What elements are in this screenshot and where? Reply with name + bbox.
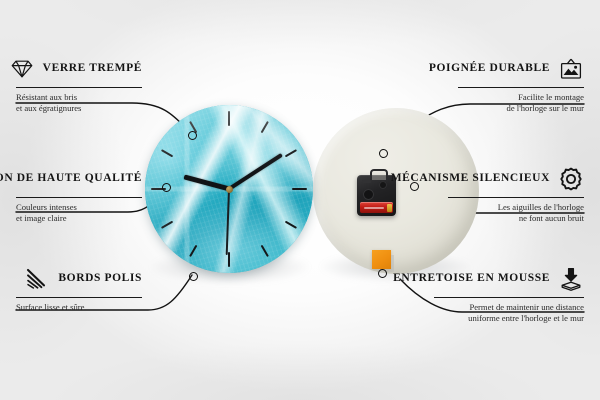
leader-ring-impression	[162, 183, 171, 192]
feature-rule	[16, 197, 142, 198]
leader-ring-poignee	[379, 149, 388, 158]
feature-rule	[458, 87, 584, 88]
foam-spacer-pad	[372, 250, 391, 269]
mechanism-dial-left	[363, 189, 374, 200]
leader-ring-entretoise	[378, 269, 387, 278]
foam-spacer-icon	[558, 266, 584, 292]
feature-description: Surface lisse et sûre	[16, 302, 142, 313]
feature-rule	[434, 297, 584, 298]
feature-header: VERRE TREMPÉ	[16, 56, 142, 82]
feature-description: Les aiguilles de l'horloge ne font aucun…	[448, 202, 584, 223]
feature-description: Facilite le montage de l'horloge sur le …	[458, 92, 584, 113]
picture-hanger-icon	[558, 56, 584, 82]
gear-icon	[558, 166, 584, 192]
feature-title: ENTRETOISE EN MOUSSE	[393, 272, 550, 286]
feature-header: MÉCANISME SILENCIEUX	[448, 166, 584, 192]
feature-entretoise-en-mousse[interactable]: ENTRETOISE EN MOUSSE Permet de maintenir…	[434, 266, 584, 323]
feature-description: Couleurs intenses et image claire	[16, 202, 142, 223]
feature-header: POIGNÉE DURABLE	[458, 56, 584, 82]
feature-header: ultra HD IMPRESSION DE HAUTE QUALITÉ	[16, 166, 142, 192]
feature-title: MÉCANISME SILENCIEUX	[391, 172, 550, 186]
polished-edges-icon	[24, 266, 50, 292]
mechanism-hanging-tab	[370, 169, 388, 180]
leader-ring-verre-trempe	[188, 131, 197, 140]
feature-description: Permet de maintenir une distance uniform…	[434, 302, 584, 323]
feature-rule	[448, 197, 584, 198]
feature-verre-trempe[interactable]: VERRE TREMPÉ Résistant aux bris et aux é…	[16, 56, 142, 113]
feature-mecanisme-silencieux[interactable]: MÉCANISME SILENCIEUX Les aiguilles de l'…	[448, 166, 584, 223]
feature-title: VERRE TREMPÉ	[43, 62, 142, 76]
feature-rule	[16, 87, 142, 88]
battery-stripe	[364, 207, 384, 209]
feature-header: BORDS POLIS	[16, 266, 142, 292]
mechanism-slot	[362, 180, 371, 183]
battery	[360, 202, 393, 213]
feature-description: Résistant aux bris et aux égratignures	[16, 92, 142, 113]
feature-impression-haute-qualite[interactable]: ultra HD IMPRESSION DE HAUTE QUALITÉ Cou…	[16, 166, 142, 223]
diamond-icon	[9, 56, 35, 82]
feature-bords-polis[interactable]: BORDS POLIS Surface lisse et sûre	[16, 266, 142, 313]
feature-header: ENTRETOISE EN MOUSSE	[434, 266, 584, 292]
feature-title: POIGNÉE DURABLE	[429, 62, 550, 76]
mechanism-dial-right	[379, 181, 387, 189]
battery-terminal	[387, 204, 392, 212]
clock-hand-cap	[226, 186, 233, 193]
feature-title: BORDS POLIS	[58, 272, 142, 286]
feature-rule	[16, 297, 142, 298]
infographic-canvas: VERRE TREMPÉ Résistant aux bris et aux é…	[0, 0, 600, 400]
feature-poignee-durable[interactable]: POIGNÉE DURABLE Facilite le montage de l…	[458, 56, 584, 113]
leader-ring-bords-polis	[189, 272, 198, 281]
feature-title: IMPRESSION DE HAUTE QUALITÉ	[0, 172, 142, 186]
